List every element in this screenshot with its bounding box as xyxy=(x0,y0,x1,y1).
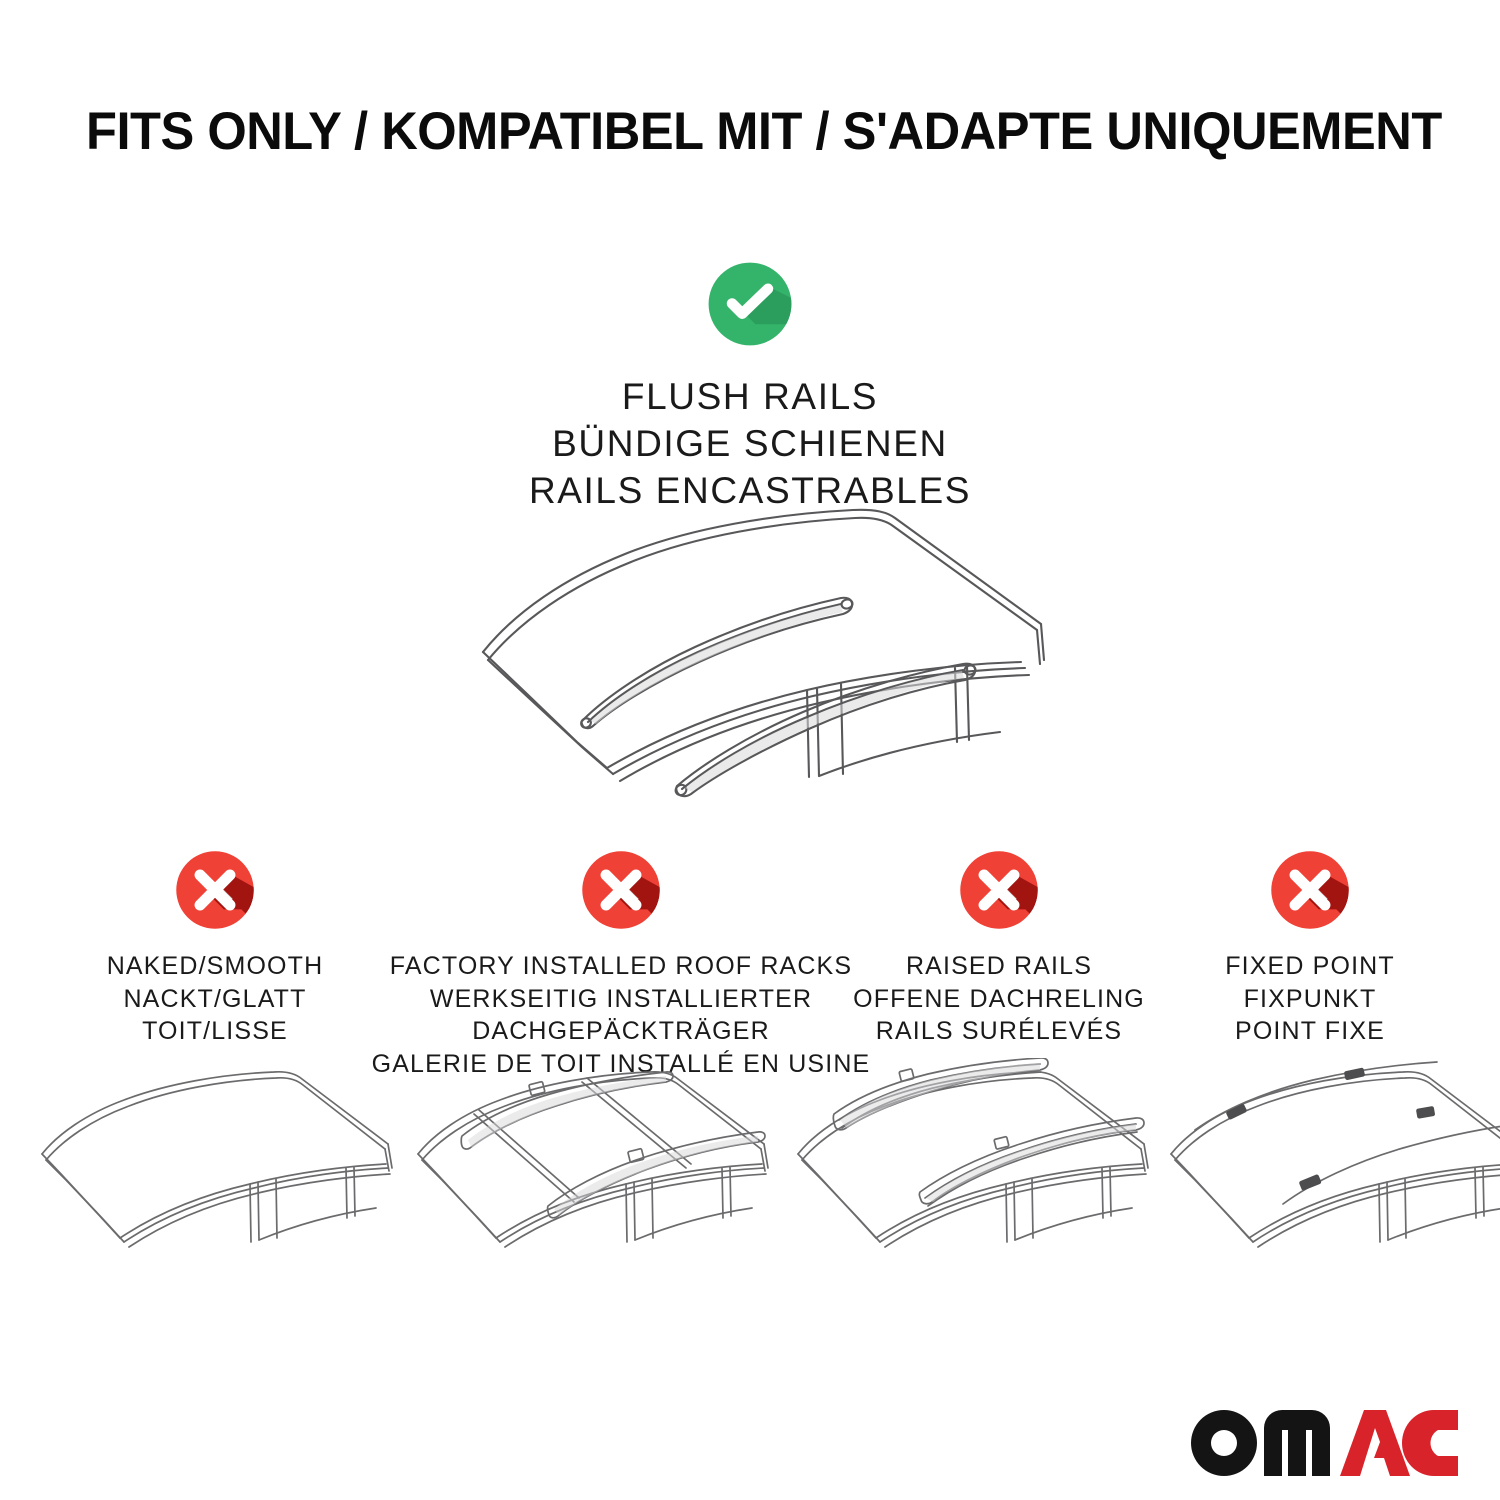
red-x-icon xyxy=(171,846,259,934)
incompatible-item-raised-rails: RAISED RAILS OFFENE DACHRELING RAILS SUR… xyxy=(846,846,1152,1048)
compatible-label-en: FLUSH RAILS xyxy=(529,374,971,421)
label-line-2: OFFENE DACHRELING xyxy=(853,983,1145,1016)
incompatible-item-naked-smooth: NAKED/SMOOTH NACKT/GLATT TOIT/LISSE xyxy=(45,846,385,1048)
green-check-icon xyxy=(704,258,796,350)
red-x-icon xyxy=(955,846,1043,934)
label-line-1: FACTORY INSTALLED ROOF RACKS xyxy=(372,950,871,983)
incompatible-labels: FIXED POINT FIXPUNKT POINT FIXE xyxy=(1225,950,1395,1048)
label-line-3: TOIT/LISSE xyxy=(107,1015,324,1048)
car-roof-factory-racks-illustration xyxy=(412,1058,784,1288)
car-roof-raised-rails-illustration xyxy=(792,1058,1164,1288)
red-x-icon xyxy=(577,846,665,934)
label-line-2: WERKSEITIG INSTALLIERTER xyxy=(372,983,871,1016)
label-line-1: NAKED/SMOOTH xyxy=(107,950,324,983)
compatible-section: FLUSH RAILS BÜNDIGE SCHIENEN RAILS ENCAS… xyxy=(0,258,1500,515)
label-line-3: DACHGEPÄCKTRÄGER xyxy=(372,1015,871,1048)
compatible-label-de: BÜNDIGE SCHIENEN xyxy=(529,421,971,468)
label-line-2: FIXPUNKT xyxy=(1225,983,1395,1016)
incompatible-labels: RAISED RAILS OFFENE DACHRELING RAILS SUR… xyxy=(853,950,1145,1048)
incompatible-item-factory-roof-racks: FACTORY INSTALLED ROOF RACKS WERKSEITIG … xyxy=(392,846,850,1080)
omac-logo xyxy=(1190,1406,1462,1480)
page-title: FITS ONLY / KOMPATIBEL MIT / S'ADAPTE UN… xyxy=(86,104,1366,160)
car-roof-fixed-point-illustration xyxy=(1165,1058,1500,1288)
incompatible-labels: NAKED/SMOOTH NACKT/GLATT TOIT/LISSE xyxy=(107,950,324,1048)
red-x-icon xyxy=(1266,846,1354,934)
incompatible-item-fixed-point: FIXED POINT FIXPUNKT POINT FIXE xyxy=(1160,846,1460,1048)
label-line-3: POINT FIXE xyxy=(1225,1015,1395,1048)
label-line-1: RAISED RAILS xyxy=(853,950,1145,983)
label-line-3: RAILS SURÉLEVÉS xyxy=(853,1015,1145,1048)
label-line-1: FIXED POINT xyxy=(1225,950,1395,983)
car-roof-flush-rails-illustration xyxy=(455,492,1055,802)
label-line-2: NACKT/GLATT xyxy=(107,983,324,1016)
car-roof-naked-illustration xyxy=(36,1058,408,1288)
